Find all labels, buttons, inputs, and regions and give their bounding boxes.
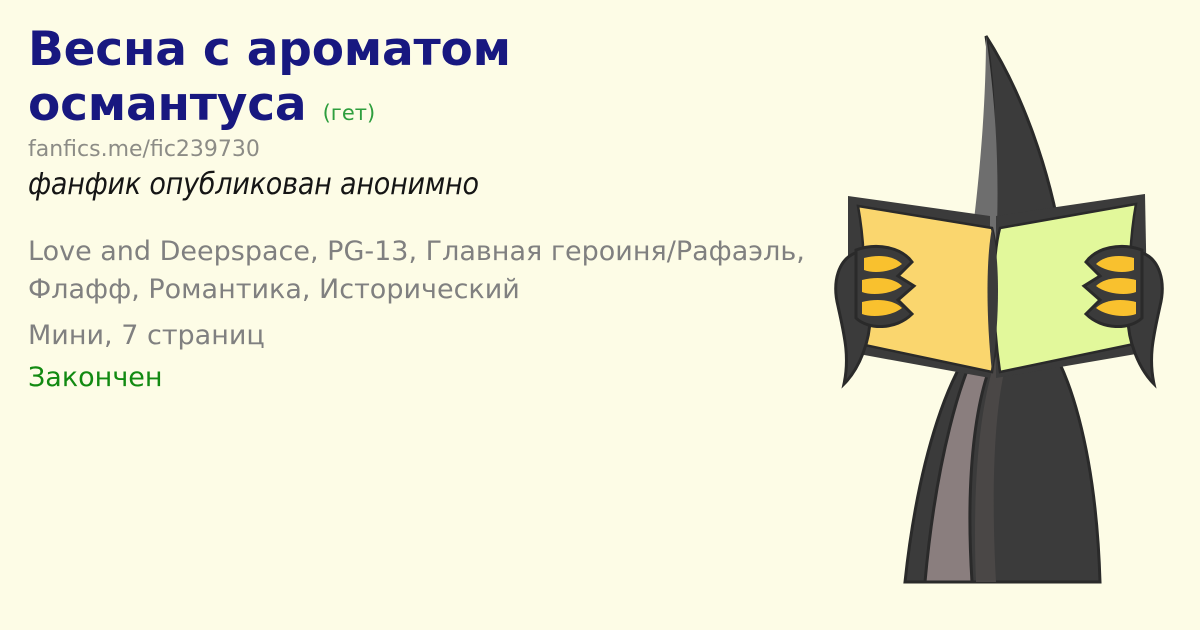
- fanfic-info-column: Весна с ароматом османтуса (гет) fanfics…: [28, 22, 808, 396]
- fic-status: Закончен: [28, 360, 808, 395]
- fic-size: Мини, 7 страниц: [28, 318, 808, 353]
- left-hand-claw: [836, 246, 914, 384]
- fanfic-share-card: Весна с ароматом османтуса (гет) fanfics…: [0, 0, 1200, 630]
- fic-author-line: фанфик опубликован анонимно: [28, 168, 808, 203]
- fic-title-text: Весна с ароматом османтуса: [28, 22, 511, 132]
- page-title: Весна с ароматом османтуса (гет): [28, 22, 628, 132]
- fic-meta-block: Love and Deepspace, PG-13, Главная герои…: [28, 233, 808, 396]
- fic-url[interactable]: fanfics.me/fic239730: [28, 138, 808, 162]
- fic-category-badge: (гет): [323, 101, 376, 125]
- witch-reading-book-illustration: [800, 0, 1200, 630]
- right-hand-claw: [1084, 246, 1162, 384]
- fic-tags: Love and Deepspace, PG-13, Главная герои…: [28, 233, 808, 310]
